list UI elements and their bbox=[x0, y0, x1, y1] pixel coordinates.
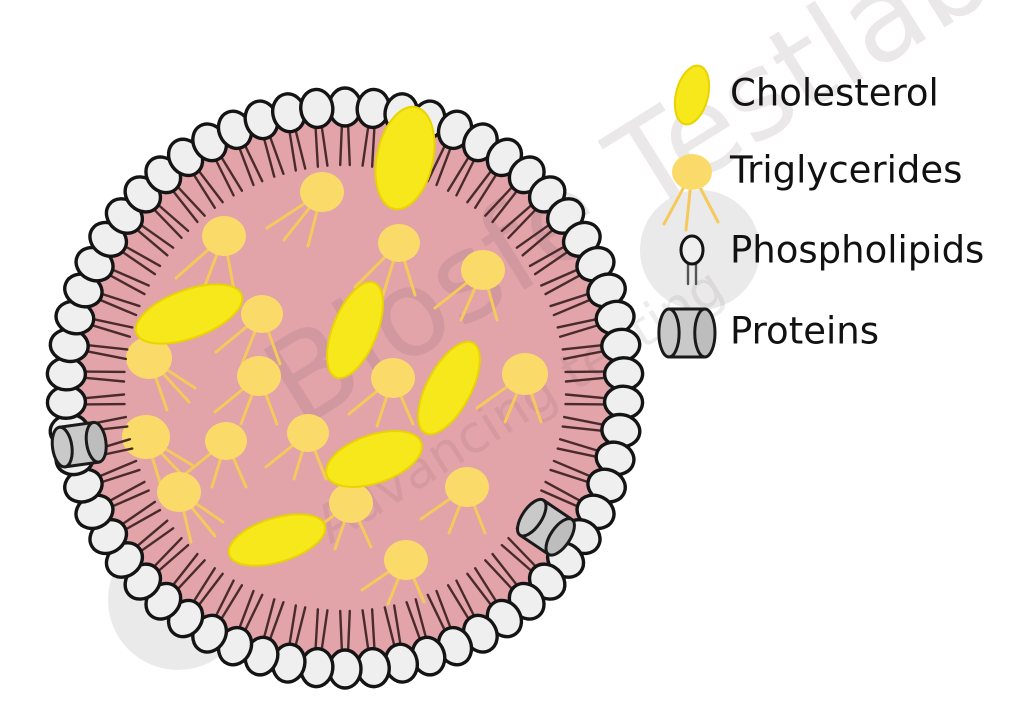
legend-label: Cholesterol bbox=[730, 72, 939, 115]
triglyceride-head bbox=[329, 483, 373, 523]
protein-cylinder-icon bbox=[659, 309, 715, 357]
phospholipid-icon bbox=[681, 236, 703, 264]
triglyceride-head bbox=[237, 356, 281, 396]
triglyceride-head bbox=[502, 353, 548, 395]
triglyceride-head bbox=[461, 250, 505, 290]
triglyceride-head bbox=[287, 414, 329, 452]
triglyceride-circle-icon bbox=[672, 154, 712, 190]
triglyceride-head bbox=[300, 172, 344, 212]
triglyceride-head bbox=[157, 472, 201, 512]
triglyceride-head bbox=[384, 540, 428, 580]
triglyceride-head bbox=[445, 467, 489, 507]
triglyceride-head bbox=[371, 358, 415, 398]
legend-label: Proteins bbox=[730, 310, 879, 353]
legend-label: Phospholipids bbox=[730, 229, 984, 272]
figure-canvas: Biosfe Testlab Advancing testing Cholest… bbox=[0, 0, 1024, 703]
lipoprotein-diagram: Biosfe Testlab Advancing testing Cholest… bbox=[0, 0, 1024, 703]
triglyceride-head bbox=[241, 295, 283, 333]
triglyceride-head bbox=[378, 224, 420, 262]
triglyceride-head bbox=[205, 422, 247, 460]
triglyceride-head bbox=[122, 415, 170, 459]
triglyceride-head bbox=[202, 216, 246, 256]
protein-molecule bbox=[50, 421, 109, 468]
legend-label: Triglycerides bbox=[729, 149, 962, 192]
legend-item[interactable]: Proteins bbox=[659, 309, 879, 357]
